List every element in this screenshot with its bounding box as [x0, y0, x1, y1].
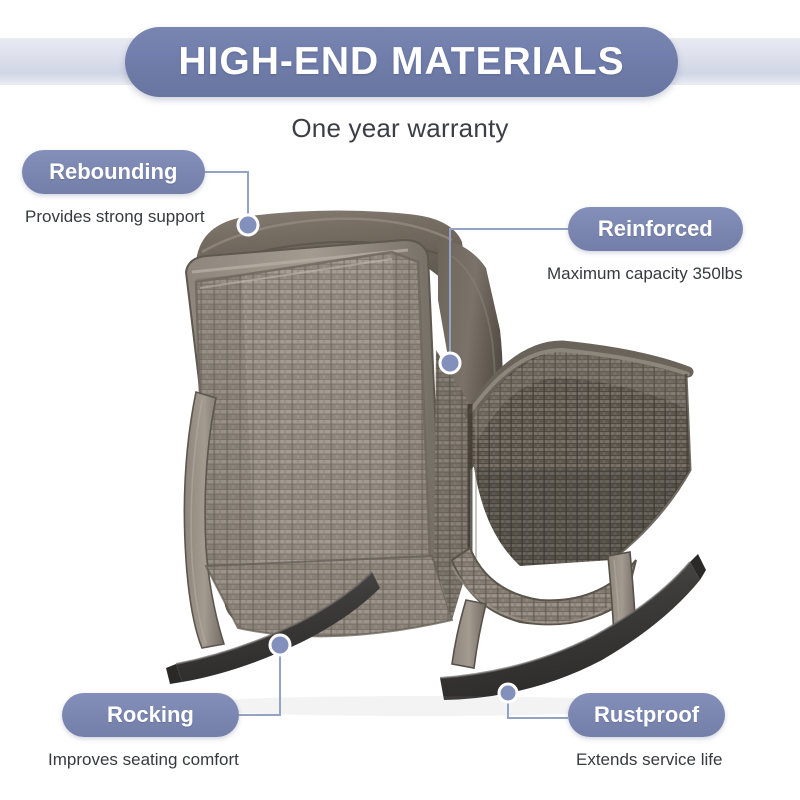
callout-rocking: Rocking Improves seating comfort	[62, 693, 239, 770]
callout-caption-rebounding: Provides strong support	[25, 207, 205, 227]
callout-pill-rustproof: Rustproof	[568, 693, 725, 737]
callout-rebounding: Rebounding Provides strong support	[22, 150, 205, 227]
infographic-page: HIGH-END MATERIALS One year warranty	[0, 0, 800, 800]
product-photo-rocking-chair	[0, 0, 800, 800]
callout-label-rocking: Rocking	[107, 702, 194, 728]
callout-caption-rustproof: Extends service life	[576, 750, 725, 770]
callout-pill-reinforced: Reinforced	[568, 207, 743, 251]
callout-caption-rocking: Improves seating comfort	[48, 750, 239, 770]
callout-label-rustproof: Rustproof	[594, 702, 699, 728]
callout-caption-reinforced: Maximum capacity 350lbs	[547, 264, 743, 284]
callout-pill-rebounding: Rebounding	[22, 150, 205, 194]
callout-rustproof: Rustproof Extends service life	[568, 693, 725, 770]
callout-reinforced: Reinforced Maximum capacity 350lbs	[568, 207, 743, 284]
callout-label-reinforced: Reinforced	[598, 216, 713, 242]
callout-pill-rocking: Rocking	[62, 693, 239, 737]
callout-label-rebounding: Rebounding	[49, 159, 177, 185]
